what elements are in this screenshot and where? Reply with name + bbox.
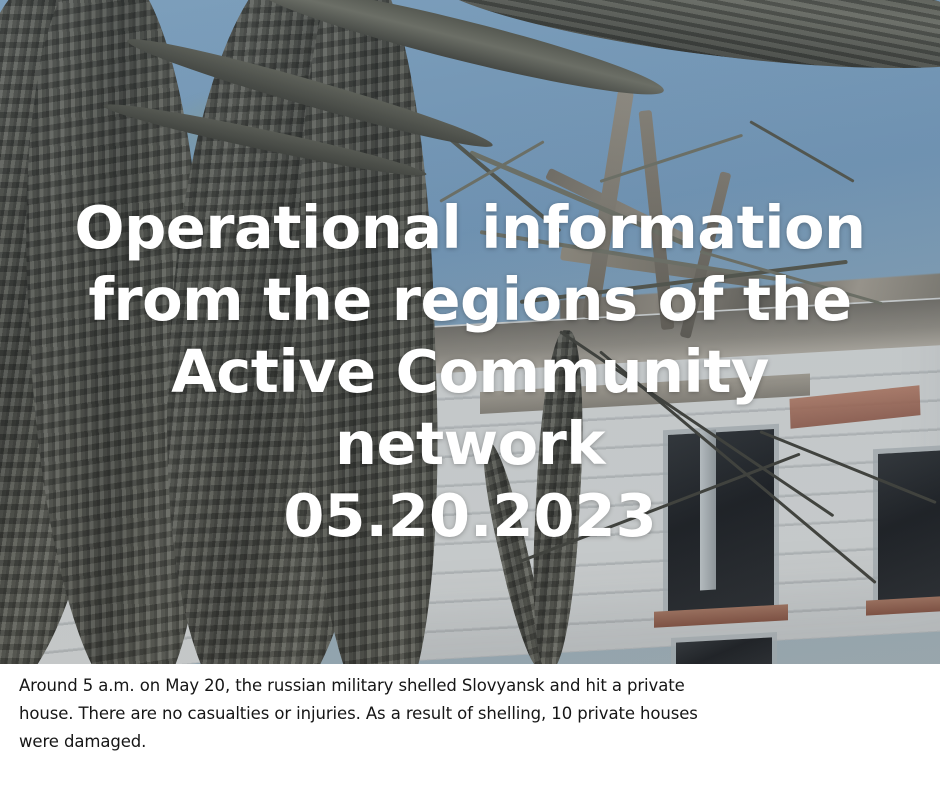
caption-text: Around 5 a.m. on May 20, the russian mil…: [19, 672, 741, 756]
social-card: Operational information from the regions…: [0, 0, 940, 788]
background-photo: Operational information from the regions…: [0, 0, 940, 664]
broken-window-lower: [676, 637, 772, 664]
page-date: 05.20.2023: [0, 480, 940, 552]
caption-bar: Around 5 a.m. on May 20, the russian mil…: [0, 664, 940, 788]
page-title: Operational information from the regions…: [0, 192, 940, 480]
